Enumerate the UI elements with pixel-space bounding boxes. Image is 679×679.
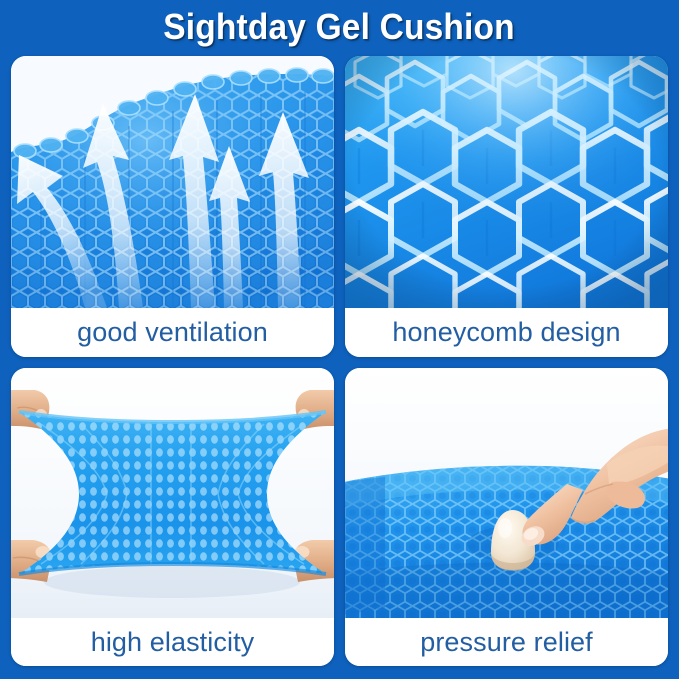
caption-ventilation-label: good ventilation xyxy=(77,317,268,348)
caption-honeycomb: honeycomb design xyxy=(345,308,668,357)
gel-cushion-airflow-arrows-photo xyxy=(11,56,334,308)
page-title-bar: Sightday Gel Cushion xyxy=(0,0,679,54)
caption-elasticity: high elasticity xyxy=(11,618,334,666)
feature-card-ventilation: good ventilation xyxy=(11,56,334,357)
gel-pad-stretched-by-hands-photo xyxy=(11,368,334,618)
feature-card-pressure: pressure relief xyxy=(345,368,668,666)
caption-ventilation: good ventilation xyxy=(11,308,334,357)
caption-honeycomb-label: honeycomb design xyxy=(392,317,620,348)
feature-card-honeycomb: honeycomb design xyxy=(345,56,668,357)
feature-card-elasticity: high elasticity xyxy=(11,368,334,666)
page-title: Sightday Gel Cushion xyxy=(164,6,516,48)
feature-panel-grid: good ventilation xyxy=(11,56,668,666)
infographic-page: Sightday Gel Cushion xyxy=(0,0,679,679)
honeycomb-macro-photo xyxy=(345,56,668,308)
finger-pressing-egg-into-gel-photo xyxy=(345,368,668,618)
caption-pressure: pressure relief xyxy=(345,618,668,666)
caption-pressure-label: pressure relief xyxy=(420,627,593,658)
caption-elasticity-label: high elasticity xyxy=(91,627,255,658)
